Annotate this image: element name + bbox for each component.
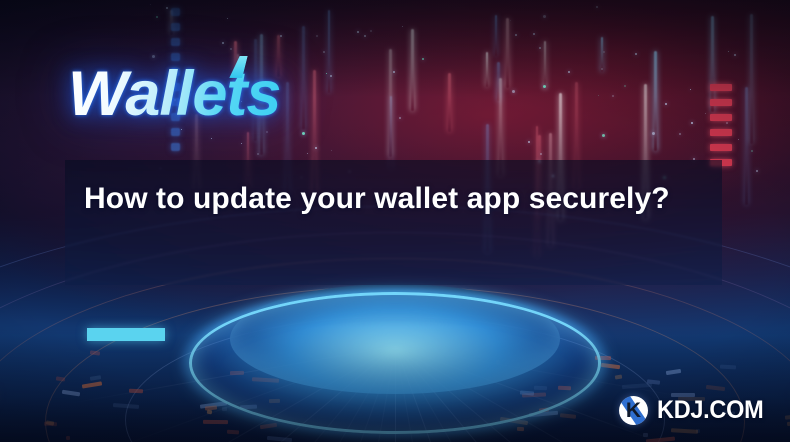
page-title: How to update your wallet app securely? bbox=[84, 174, 704, 223]
article-banner: Wallets How to update your wallet app se… bbox=[0, 0, 790, 442]
kdj-logo-icon: K bbox=[619, 396, 648, 425]
site-logo[interactable]: K KDJ.COM bbox=[619, 396, 770, 425]
category-label: Wallets bbox=[68, 63, 280, 126]
logo-wordmark: KDJ.COM bbox=[657, 398, 763, 423]
accent-bar bbox=[87, 328, 165, 341]
banner-content: Wallets How to update your wallet app se… bbox=[0, 0, 790, 442]
logo-letter: K bbox=[619, 396, 648, 425]
